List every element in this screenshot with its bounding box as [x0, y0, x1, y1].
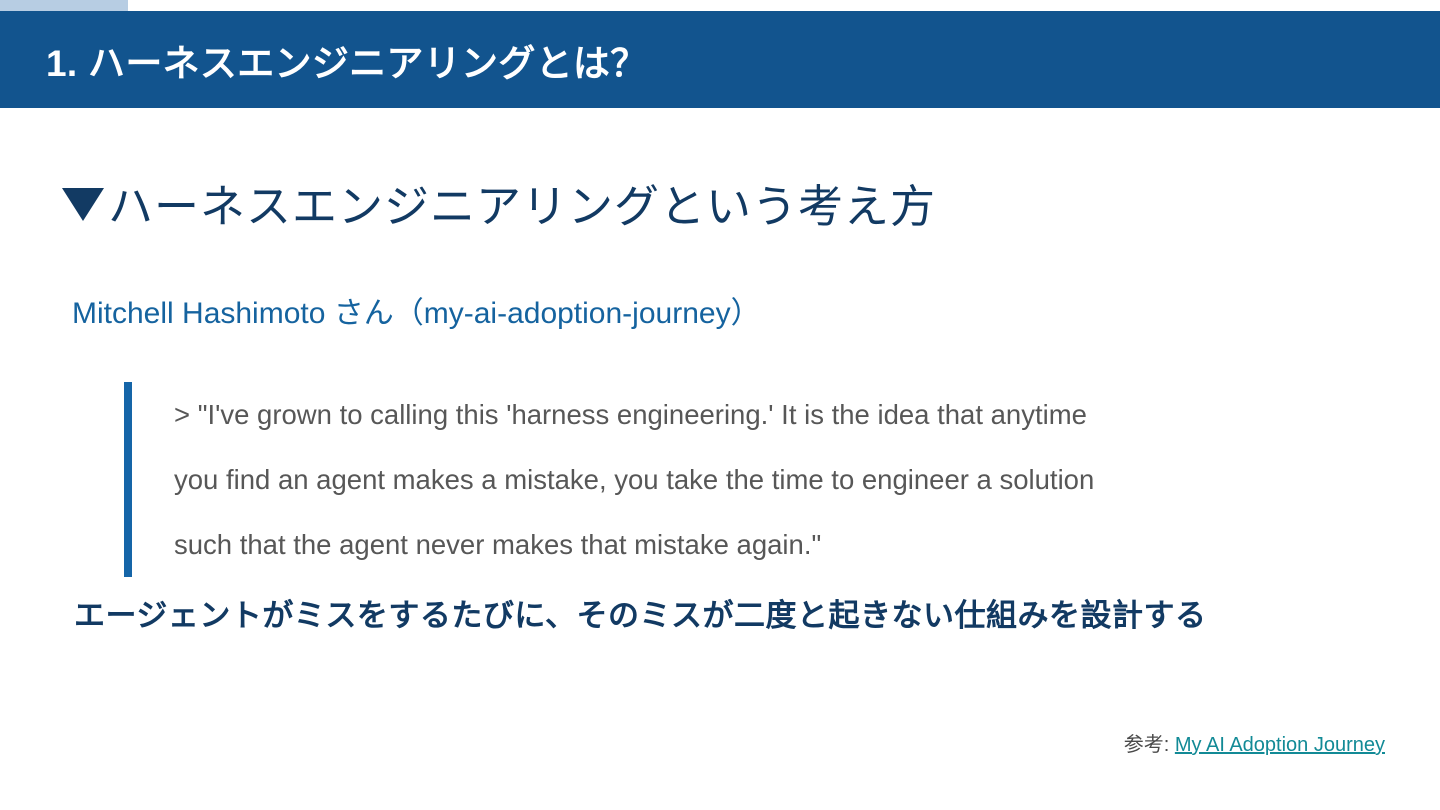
section-heading: ハーネスエンジニアリングという考え方 — [62, 170, 936, 235]
conclusion-statement: エージェントがミスをするたびに、そのミスが二度と起きない仕組みを設計する — [74, 590, 1206, 635]
blockquote-line: such that the agent never makes that mis… — [174, 512, 1434, 577]
blockquote: > "I've grown to calling this 'harness e… — [124, 382, 1434, 577]
reference-label: 参考: — [1124, 734, 1175, 756]
top-accent-tab — [0, 0, 128, 11]
slide-body: ハーネスエンジニアリングという考え方 Mitchell Hashimoto さん… — [0, 108, 1440, 810]
slide-canvas: 1. ハーネスエンジニアリングとは？ ハーネスエンジニアリングという考え方 Mi… — [0, 0, 1440, 810]
triangle-bullet-icon — [62, 188, 104, 221]
reference-footer: 参考: My AI Adoption Journey — [1124, 728, 1385, 757]
slide-header-band: 1. ハーネスエンジニアリングとは？ — [0, 11, 1440, 108]
quote-attribution: Mitchell Hashimoto さん（my-ai-adoption-jou… — [72, 288, 761, 332]
section-heading-label: ハーネスエンジニアリングという考え方 — [108, 170, 936, 235]
reference-link[interactable]: My AI Adoption Journey — [1175, 734, 1385, 756]
page-title: 1. ハーネスエンジニアリングとは？ — [46, 33, 648, 87]
blockquote-line: you find an agent makes a mistake, you t… — [174, 447, 1434, 512]
blockquote-line: > "I've grown to calling this 'harness e… — [174, 382, 1434, 447]
